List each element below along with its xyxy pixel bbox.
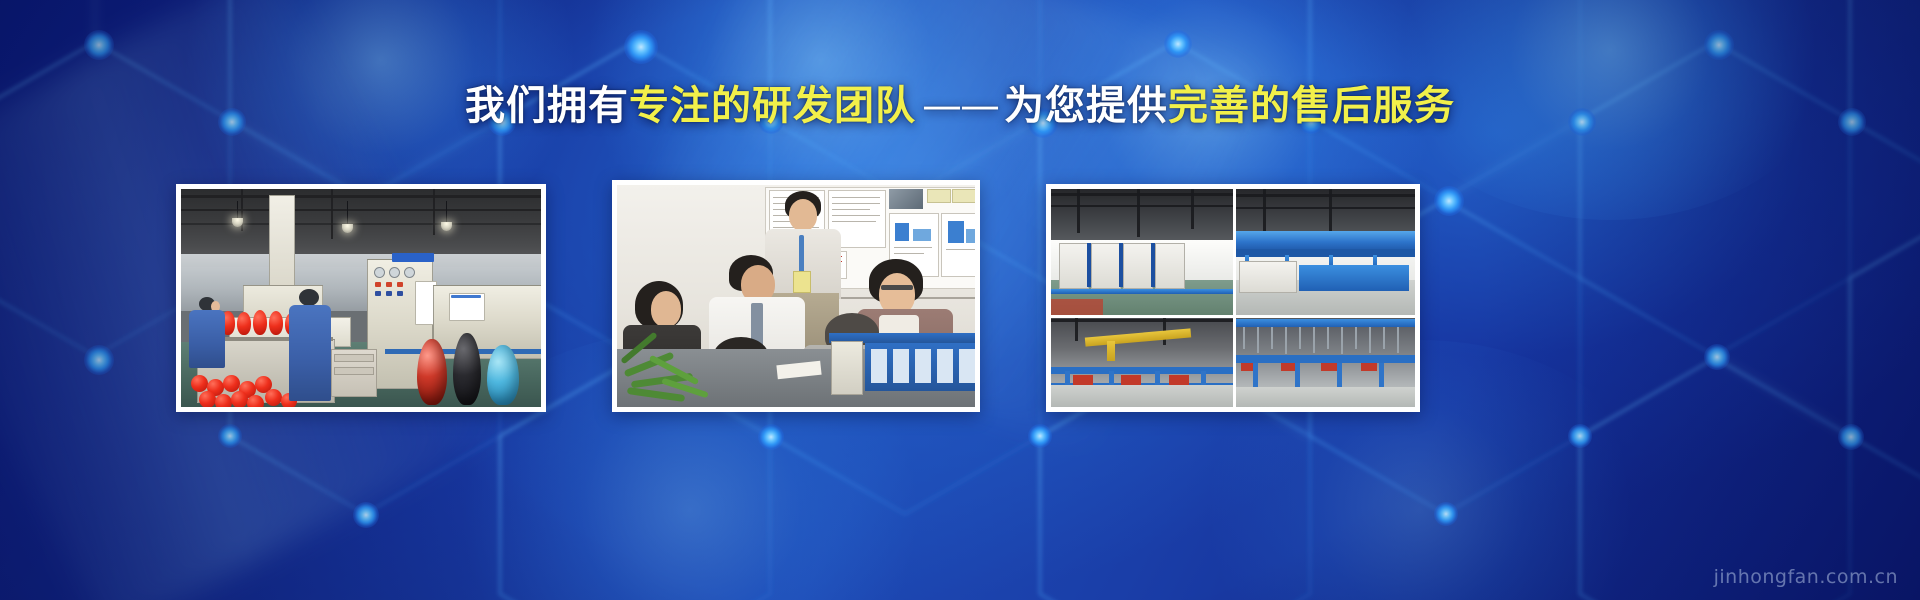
blue-air-duct [1233,231,1415,251]
drawing-shape [948,221,964,243]
part-hanger [1271,327,1273,349]
gauge-icon [404,267,415,278]
site-watermark: jinhongfan.com.cn [1714,566,1898,588]
roof-column [1077,189,1080,233]
label-thumbnail [952,189,975,203]
booth-cabinet [1091,243,1121,289]
equipment-blue [1299,265,1409,291]
machine-unit [831,341,863,395]
drawing-shape [913,229,931,241]
gauge-icon [389,267,400,278]
worker-body [289,305,331,401]
poster-text-line [832,197,880,198]
photo-workshop-coating-line [181,189,541,407]
part-hanger [1327,327,1329,349]
part-hanger [1355,327,1357,349]
roof-truss [1051,319,1233,322]
drawing-line [894,247,932,248]
drawing-line [894,253,924,254]
red-workpiece [269,311,283,335]
control-button-icon [386,282,392,287]
headline-highlight-1: 专注的研发团队 [629,83,916,129]
crane-hoist [1107,341,1115,361]
roof-truss [1233,194,1415,197]
red-fixture [1321,363,1337,371]
photo-production-lines [1051,189,1415,407]
machine-nameplate [392,253,434,262]
roof-column [1191,189,1194,229]
lanyard [799,235,804,273]
red-workpiece [191,375,208,392]
headline: 我们拥有专注的研发团队——为您提供完善的售后服务 [465,82,1455,130]
red-fixture [1121,375,1141,385]
person-head [651,291,681,327]
roof-beam [331,189,333,239]
lamp-stem [446,201,447,223]
crate-slot [334,367,374,375]
headline-part-1: 我们拥有 [465,83,629,129]
photo-frame-production[interactable] [1046,184,1420,412]
poster-text-line [832,215,880,216]
lamp-stem [237,201,238,219]
headline-part-2: 为您提供 [1004,83,1168,129]
control-button-icon [397,291,403,296]
booth-divider [1151,243,1155,287]
roof-beam [181,195,541,198]
roof-beam [433,189,435,235]
quadrant-duct-hall [1233,189,1415,315]
roof-beam [181,209,541,211]
equipment-box [1239,261,1297,293]
booth-cabinet [1059,243,1089,289]
red-workpiece [265,389,282,406]
photo-thumbnail [889,189,923,209]
poster-text-line [832,209,870,210]
drawing-shape [966,229,975,243]
red-workpiece [215,394,232,407]
control-button-icon [397,282,403,287]
roof-column [1075,315,1078,341]
floor [1233,387,1415,407]
duct-shadow [1233,249,1415,257]
part-hanger [1313,327,1315,353]
red-workpiece [223,375,240,392]
roof-column [1263,189,1266,237]
sheet-line [451,295,481,298]
photo-frame-workshop[interactable] [176,184,546,412]
decor-vase-black [453,333,481,405]
part-hanger [1257,327,1259,353]
machine-door [959,349,975,383]
label-thumbnail [927,189,951,203]
red-workpiece [237,312,251,335]
booth-cabinet [1123,243,1153,289]
red-workpiece [247,395,264,407]
booth-cabinet [1155,243,1185,289]
crate-slot [334,354,374,362]
red-workpiece [253,310,267,335]
eyeglasses-icon [881,285,913,290]
part-hanger [1243,327,1245,349]
control-button-icon [386,291,392,296]
part-hanger [1299,327,1301,349]
control-button-icon [375,291,381,296]
red-workpiece [231,391,248,407]
base-rail [1051,289,1233,294]
roof-truss [1233,207,1415,209]
gauge-icon [374,267,385,278]
headline-highlight-2: 完善的售后服务 [1168,83,1455,129]
collage-divider [1233,189,1236,407]
lamp-stem [347,201,348,225]
machine-door [915,349,931,383]
headline-container: 我们拥有专注的研发团队——为您提供完善的售后服务 [0,82,1920,130]
quadrant-conveyor [1051,315,1233,407]
booth-divider [1087,243,1091,287]
booth-divider [1119,243,1123,287]
floor [1051,385,1233,407]
red-workpiece [199,391,216,407]
headline-dash: —— [916,83,1004,129]
quadrant-coating-booths [1051,189,1233,315]
part-hanger [1369,327,1371,353]
red-fixture [1169,375,1189,385]
photo-frame-meeting[interactable] [612,180,980,412]
person-head [789,199,817,231]
drawing-shape [895,223,909,241]
part-hanger [1341,327,1343,354]
control-button-icon [375,282,381,287]
floor-marking [1051,299,1103,315]
promo-banner: 我们拥有专注的研发团队——为您提供完善的售后服务 [0,0,1920,600]
worker-hair [299,289,319,306]
red-fixture [1361,363,1377,371]
part-hanger [1285,327,1287,354]
part-hanger [1397,327,1399,353]
poster-text-line [832,221,876,222]
photo-meeting-discussion [617,185,975,407]
machine-door [893,349,909,383]
red-fixture [1073,375,1093,385]
machine-door [937,349,953,383]
poster-text-line [832,203,880,204]
id-badge [793,271,811,293]
conveyor-rail [1233,355,1415,363]
roof-column [1137,189,1140,237]
overhead-rail [1233,319,1415,327]
machine-door [871,349,887,383]
quadrant-hanger-line [1233,315,1415,407]
decor-vase-red [417,339,447,405]
drawing-line [946,249,975,250]
part-hanger [1383,327,1385,349]
worker-body [189,310,225,368]
decor-vase-blue [487,345,519,405]
collage-divider [1051,315,1415,318]
